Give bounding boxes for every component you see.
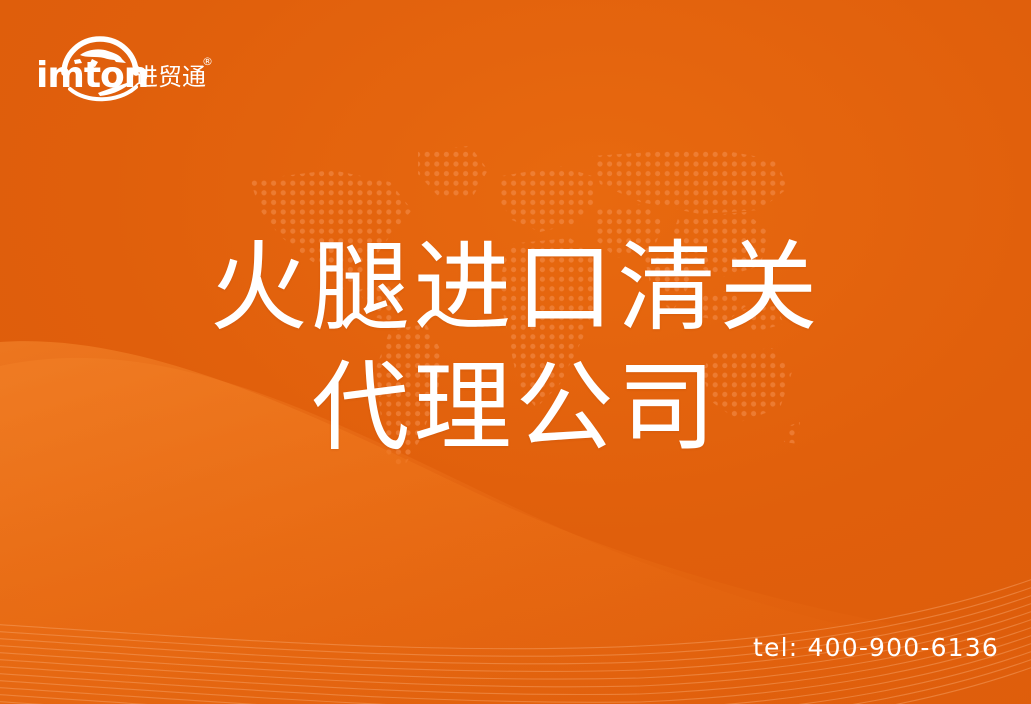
company-logo[interactable]: imton 进贸通 ® xyxy=(36,29,212,103)
trademark-icon: ® xyxy=(202,55,212,68)
headline-line-1: 火腿进口清关 xyxy=(0,228,1031,348)
logo-wordmark-chinese: 进贸通 xyxy=(134,63,206,91)
promotional-banner: imton 进贸通 ® 火腿进口清关 代理公司 tel: 400-900-613… xyxy=(0,0,1031,704)
headline: 火腿进口清关 代理公司 xyxy=(0,228,1031,468)
contact-phone[interactable]: tel: 400-900-6136 xyxy=(753,633,999,662)
logo-mark: imton 进贸通 ® xyxy=(36,29,212,103)
headline-line-2: 代理公司 xyxy=(0,348,1031,468)
logo-wordmark-latin: imton xyxy=(36,55,148,96)
